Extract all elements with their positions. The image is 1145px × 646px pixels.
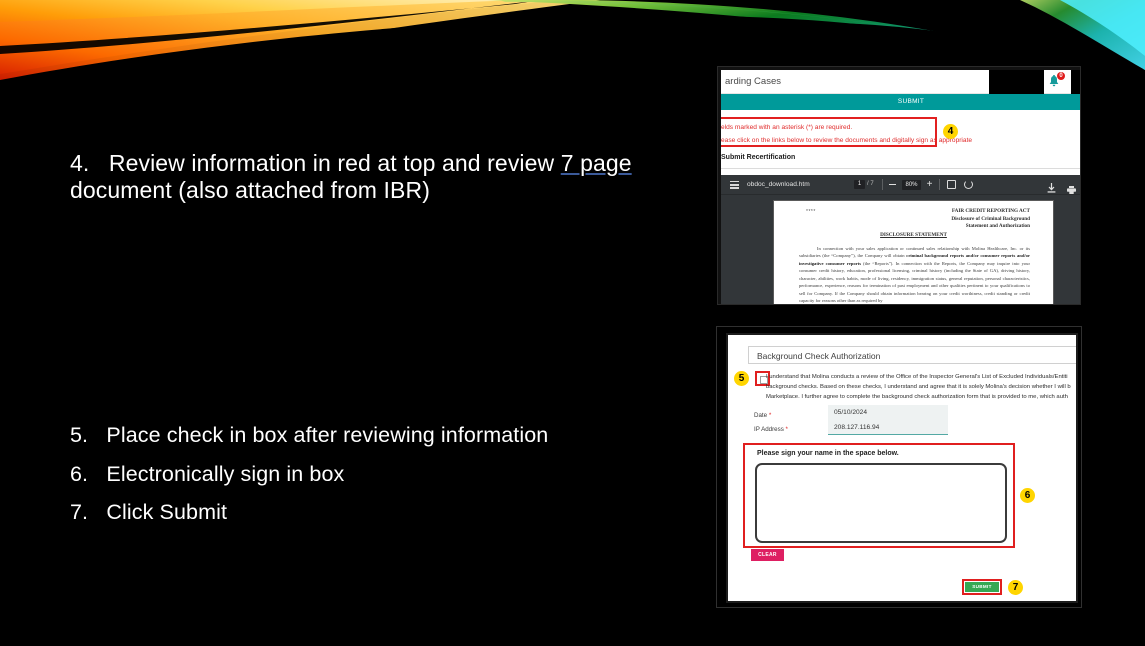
bullet-6-number: 6.: [70, 462, 88, 486]
pdf-doc-heading-line1: FAIR CREDIT REPORTING ACT: [951, 208, 1030, 216]
pdf-doc-heading-line3: Statement and Authorization: [951, 223, 1030, 231]
form-title-box: Background Check Authorization: [748, 346, 1078, 364]
authorization-form: Background Check Authorization 5 I under…: [726, 333, 1078, 603]
form-alert-area: elds marked with an asterisk (*) are req…: [721, 110, 1081, 170]
bullet-4-highlight-link[interactable]: 7 page: [561, 150, 632, 176]
submit-button-highlight: SUBMIT: [962, 579, 1002, 595]
bullet-item-4: 4. Review information in red at top and …: [70, 150, 670, 203]
bullet-item-5: 5. Place check in box after reviewing in…: [70, 423, 670, 448]
download-icon[interactable]: [1047, 180, 1056, 190]
print-icon[interactable]: [1067, 181, 1076, 189]
section-divider: [721, 168, 1081, 169]
bullet-4-text-after: document (also attached from IBR): [70, 177, 430, 203]
app-header-title: arding Cases: [725, 76, 781, 87]
date-label-text: Date: [754, 412, 767, 419]
ip-address-field-label: IP Address *: [754, 426, 788, 433]
signature-canvas[interactable]: [755, 463, 1007, 543]
bottom-screenshot: Background Check Authorization 5 I under…: [716, 326, 1082, 608]
pdf-doc-section-heading: DISCLOSURE STATEMENT: [774, 232, 1053, 238]
top-screenshot-content: arding Cases 0 SUBMIT elds marked with a…: [721, 70, 1081, 304]
toolbar-divider-2: [939, 179, 940, 190]
pdf-page-input[interactable]: 1: [854, 180, 865, 189]
redacted-region-2: [1071, 70, 1081, 94]
redacted-region-1: [989, 70, 1044, 94]
form-title: Background Check Authorization: [757, 351, 880, 361]
app-header: arding Cases 0: [721, 70, 1081, 94]
zoom-in-icon[interactable]: +: [925, 180, 934, 189]
rotate-icon[interactable]: [964, 180, 973, 189]
pdf-doc-stars: ****: [806, 209, 816, 215]
bullet-4-text-before: Review information in red at top and rev…: [109, 150, 561, 176]
bullet-7-number: 7.: [70, 500, 88, 524]
bullet-7-text: Click Submit: [106, 500, 227, 524]
signature-instruction-label: Please sign your name in the space below…: [757, 450, 899, 457]
ip-label-text: IP Address: [754, 426, 784, 433]
callout-badge-7: 7: [1008, 580, 1023, 595]
pdf-filename: obdoc_download.htm: [747, 181, 810, 188]
signature-section-highlight: Please sign your name in the space below…: [743, 443, 1015, 548]
pdf-viewer: obdoc_download.htm 1 / 7 80% +: [721, 175, 1081, 304]
pdf-doc-heading: FAIR CREDIT REPORTING ACT Disclosure of …: [951, 208, 1030, 231]
clear-signature-button[interactable]: CLEAR: [751, 549, 784, 561]
bullet-item-6: 6. Electronically sign in box: [70, 462, 670, 487]
top-screenshot: arding Cases 0 SUBMIT elds marked with a…: [717, 66, 1081, 305]
callout-badge-6: 6: [1020, 488, 1035, 503]
sidebar-toggle-icon[interactable]: [730, 181, 739, 189]
presentation-slide: 4. Review information in red at top and …: [0, 0, 1145, 646]
bullet-5-number: 5.: [70, 423, 88, 447]
callout-badge-4: 4: [943, 124, 958, 139]
pdf-para-part2: (the “Reports”). In connection with the …: [799, 261, 1030, 303]
ip-required-marker: *: [786, 426, 788, 433]
submit-banner[interactable]: SUBMIT: [721, 94, 1081, 110]
submit-button[interactable]: SUBMIT: [965, 582, 999, 592]
notification-badge: 0: [1057, 72, 1065, 80]
alert-line-1: elds marked with an asterisk (*) are req…: [721, 124, 852, 131]
toolbar-divider-1: [882, 179, 883, 190]
callout-badge-5: 5: [734, 371, 749, 386]
consent-text: I understand that Molina conducts a revi…: [766, 372, 1078, 402]
required-fields-alert-box: elds marked with an asterisk (*) are req…: [721, 117, 937, 147]
pdf-zoom-level[interactable]: 80%: [902, 180, 921, 190]
bullet-4-number: 4.: [70, 150, 89, 176]
bullet-5-text: Place check in box after reviewing infor…: [106, 423, 548, 447]
bullet-6-text: Electronically sign in box: [106, 462, 344, 486]
pdf-page-total: / 7: [867, 181, 874, 187]
pdf-doc-heading-line2: Disclosure of Criminal Background: [951, 216, 1030, 224]
zoom-out-icon[interactable]: [889, 184, 896, 185]
date-required-marker: *: [769, 412, 771, 419]
ip-address-field-value[interactable]: 208.127.116.94: [828, 420, 948, 435]
date-field-value[interactable]: 05/10/2024: [828, 405, 948, 420]
date-field-label: Date *: [754, 412, 771, 419]
bullet-item-7: 7. Click Submit: [70, 500, 670, 525]
section-label-submit-recertification: Submit Recertification: [721, 154, 795, 161]
alert-line-2: ease click on the links below to review …: [721, 137, 972, 144]
fit-page-icon[interactable]: [947, 180, 956, 189]
pdf-doc-paragraph: In connection with your sales applicatio…: [799, 245, 1030, 304]
pdf-toolbar: obdoc_download.htm 1 / 7 80% +: [721, 175, 1081, 195]
pdf-document-page: **** FAIR CREDIT REPORTING ACT Disclosur…: [773, 200, 1054, 304]
